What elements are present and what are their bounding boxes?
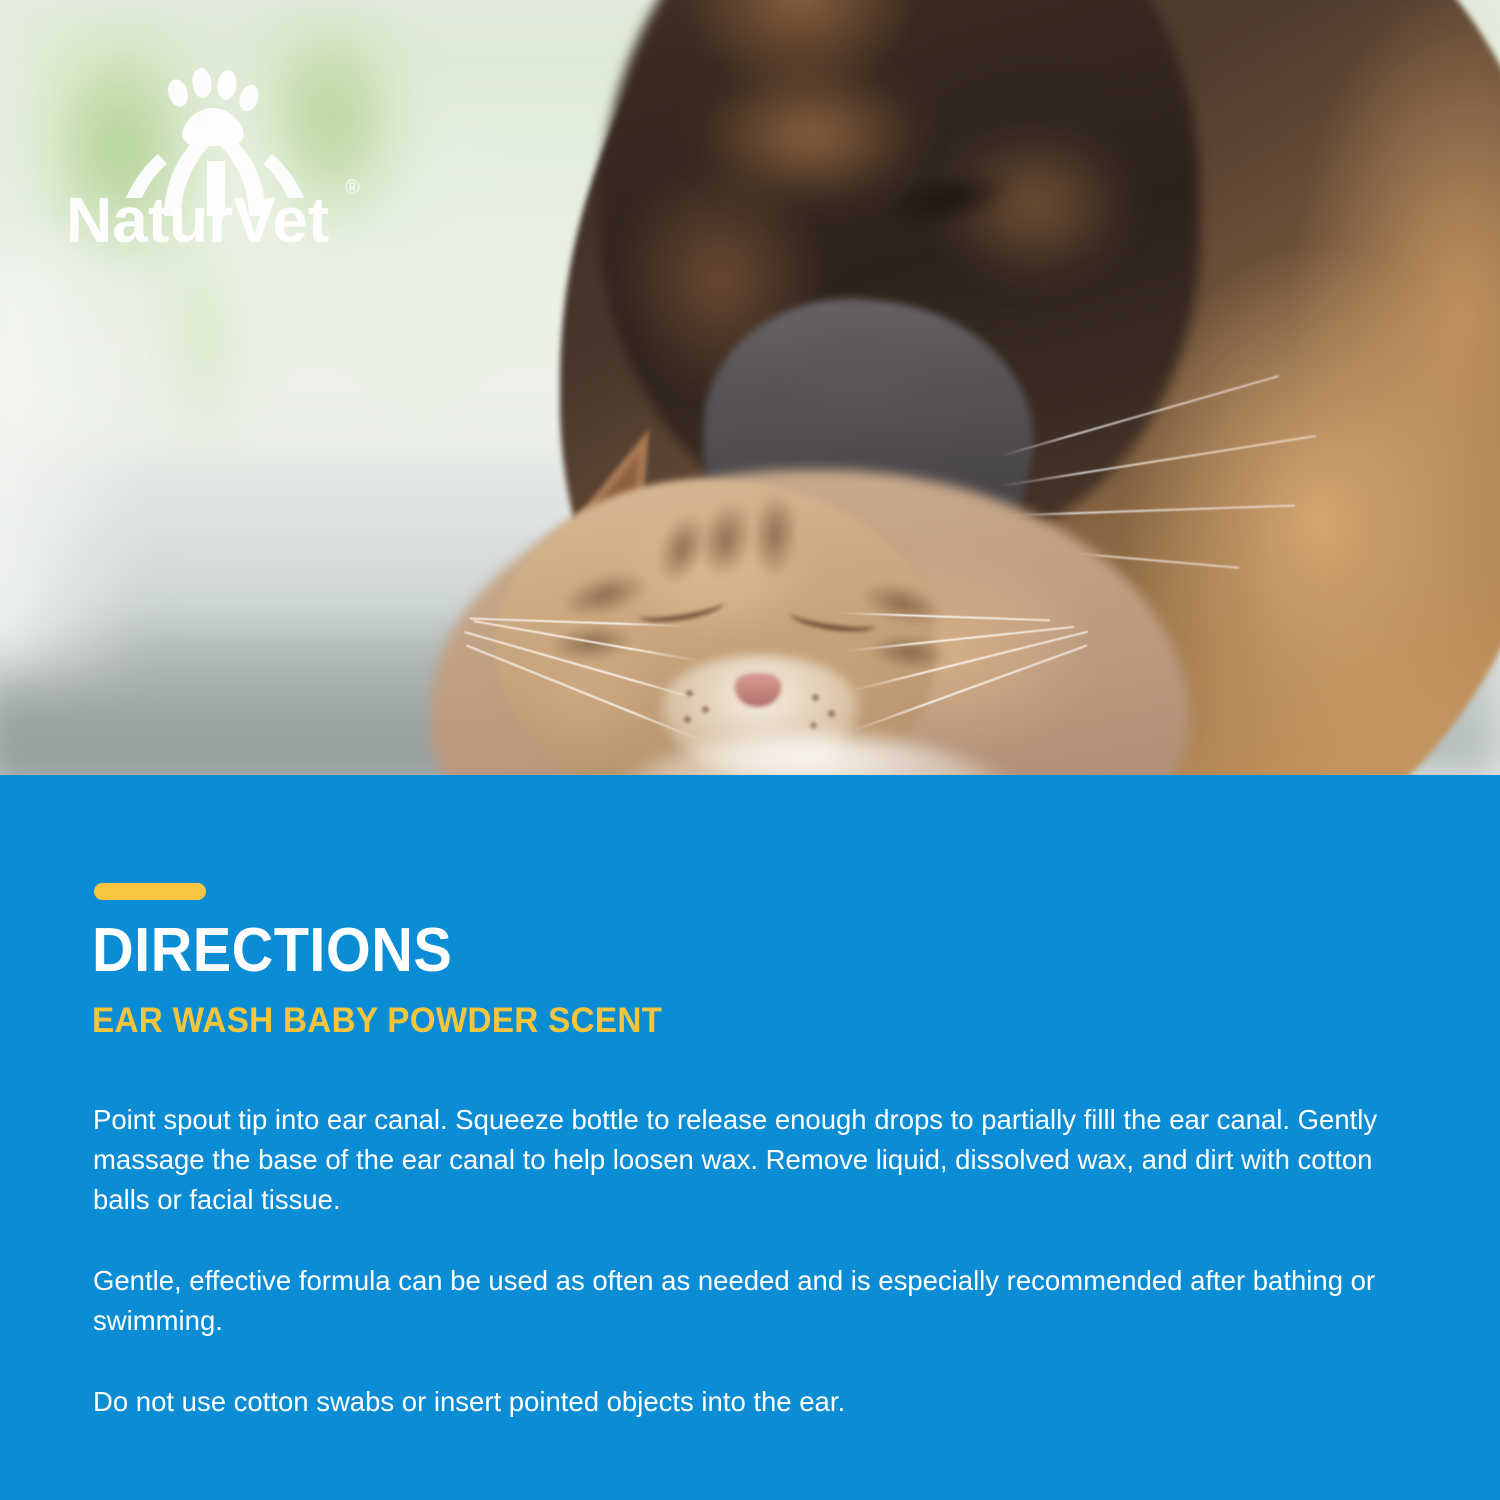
directions-paragraph: Do not use cotton swabs or insert pointe… bbox=[93, 1382, 1393, 1422]
hero-photo: NaturVet ® bbox=[0, 0, 1500, 775]
cat-whisker-dot bbox=[810, 722, 817, 729]
accent-bar bbox=[94, 883, 206, 900]
page-title: DIRECTIONS bbox=[92, 920, 452, 982]
cat-whisker-dot bbox=[702, 706, 709, 713]
directions-paragraph: Gentle, effective formula can be used as… bbox=[93, 1261, 1393, 1341]
cat-whisker-dot bbox=[684, 716, 691, 723]
dog-brow-left bbox=[690, 60, 930, 210]
naturvet-logo: NaturVet ® bbox=[62, 66, 392, 256]
product-info-page: NaturVet ® DIRECTIONS EAR WASH BABY POWD… bbox=[0, 0, 1500, 1500]
directions-panel: DIRECTIONS EAR WASH BABY POWDER SCENT Po… bbox=[0, 775, 1500, 1500]
registered-trademark-icon: ® bbox=[345, 177, 360, 199]
cat-whisker-dot bbox=[812, 694, 819, 701]
product-name: EAR WASH BABY POWDER SCENT bbox=[92, 1003, 662, 1038]
brand-wordmark: NaturVet bbox=[66, 184, 329, 256]
background-highlight bbox=[0, 250, 140, 670]
directions-text: Point spout tip into ear canal. Squeeze … bbox=[93, 1100, 1393, 1422]
cat-whisker-dot bbox=[828, 710, 835, 717]
directions-paragraph: Point spout tip into ear canal. Squeeze … bbox=[93, 1100, 1393, 1220]
